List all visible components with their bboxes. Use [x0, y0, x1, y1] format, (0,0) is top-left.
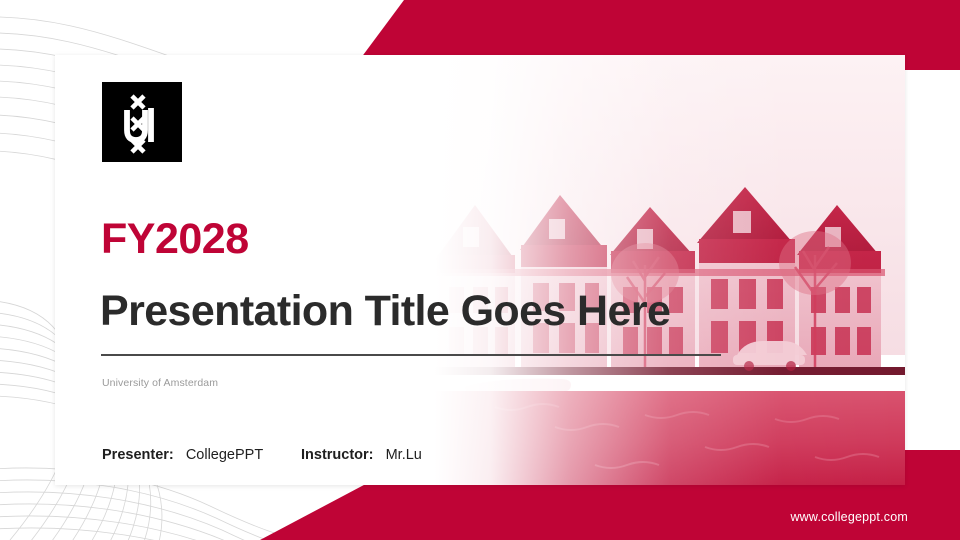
presenter-label: Presenter:: [102, 447, 174, 463]
instructor-name: Mr.Lu: [386, 447, 422, 463]
university-logo: [102, 82, 182, 162]
presenter-name: CollegePPT: [186, 447, 263, 463]
presentation-slide: FY2028 Presentation Title Goes Here Univ…: [0, 0, 960, 540]
organization-name: University of Amsterdam: [102, 377, 218, 389]
instructor-label: Instructor:: [301, 447, 374, 463]
credits-line: Presenter: CollegePPT Instructor: Mr.Lu: [102, 447, 422, 463]
page-title: Presentation Title Goes Here: [100, 288, 670, 335]
slide-content-card: FY2028 Presentation Title Goes Here Univ…: [55, 55, 905, 485]
footer-url[interactable]: www.collegeppt.com: [790, 510, 908, 524]
title-divider: [101, 354, 721, 356]
fiscal-year-label: FY2028: [101, 218, 249, 261]
card-content: FY2028 Presentation Title Goes Here Univ…: [55, 55, 905, 485]
